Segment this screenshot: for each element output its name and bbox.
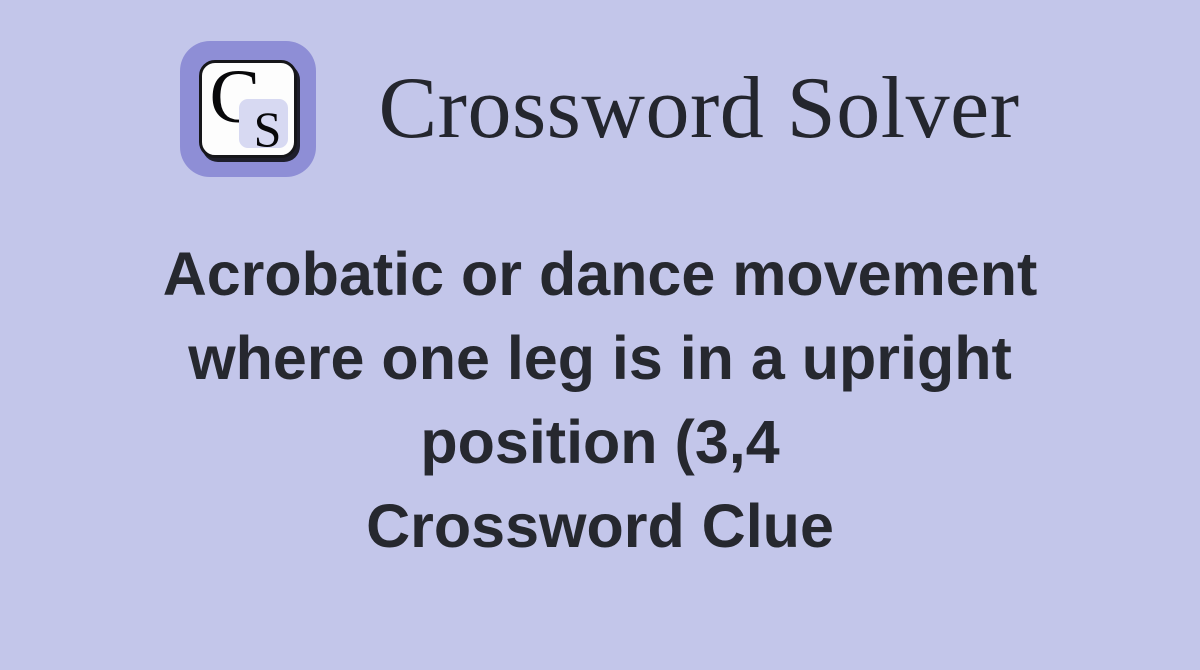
clue-line-4: Crossword Clue [0, 484, 1200, 568]
clue-line-2: where one leg is in a upright [0, 316, 1200, 400]
clue-line-3: position (3,4 [0, 400, 1200, 484]
logo-tile: C S [199, 60, 297, 158]
clue-line-1: Acrobatic or dance movement [0, 232, 1200, 316]
logo-letter-s: S [254, 104, 282, 154]
crossword-solver-logo[interactable]: C S [180, 41, 316, 177]
clue-heading: Acrobatic or dance movement where one le… [0, 232, 1200, 568]
crossword-solver-clue-page: C S Crossword Solver Acrobatic or dance … [0, 0, 1200, 670]
site-header: C S Crossword Solver [0, 26, 1200, 191]
site-title[interactable]: Crossword Solver [378, 65, 1019, 153]
